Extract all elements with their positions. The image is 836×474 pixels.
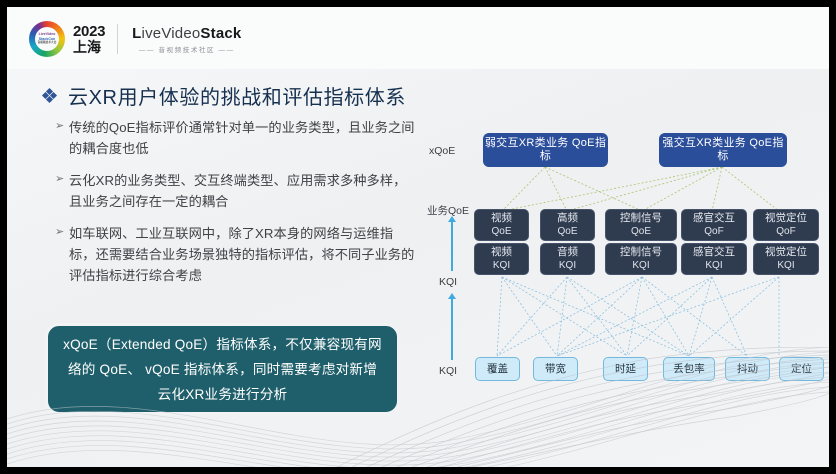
node-control-signal-kqi[interactable]: 控制信号 KQI [605, 243, 677, 275]
node-highfreq-qoe[interactable]: 高频 QoE [540, 209, 595, 241]
node-label-line2: QoF [704, 225, 723, 238]
node-label-line2: QoE [491, 225, 511, 238]
slide-canvas: LiveVideo StackCon 音视频技术大会 2023 上海 LiveV… [7, 7, 829, 467]
node-label-line2: QoE [557, 225, 577, 238]
bullet-arrow-icon: ➢ [55, 117, 69, 159]
node-label: 弱交互XR类业务 QoE指标 [483, 137, 608, 163]
node-label-line1: 视觉定位 [765, 212, 807, 225]
bullet-text: 云化XR的业务类型、交互终端类型、应用需求多种多样，且业务之间存在一定的耦合 [69, 170, 415, 212]
node-label-line2: KQI [559, 259, 576, 272]
list-item: ➢ 传统的QoE指标评价通常针对单一的业务类型，且业务之间的耦合度也低 [55, 117, 415, 159]
node-video-qoe[interactable]: 视频 QoE [474, 209, 529, 241]
brand-wordmark: LiveVideoStack [132, 25, 241, 42]
node-sensory-interaction-kqi[interactable]: 感官交互 KQI [681, 243, 747, 275]
node-control-signal-qoe[interactable]: 控制信号 QoE [605, 209, 677, 241]
event-logo: LiveVideo StackCon 音视频技术大会 2023 上海 LiveV… [29, 21, 241, 57]
bullet-text: 传统的QoE指标评价通常针对单一的业务类型，且业务之间的耦合度也低 [69, 117, 415, 159]
ring-core-text: LiveVideo StackCon 音视频技术大会 [35, 27, 59, 51]
brand-mid: iveVideo [142, 25, 201, 42]
node-label-line1: 控制信号 [620, 246, 662, 259]
node-label-line2: QoE [631, 225, 651, 238]
node-strong-interactive-xr[interactable]: 强交互XR类业务 QoE指标 [659, 133, 787, 167]
logo-divider [117, 24, 118, 54]
axis-label-xqoe: xQoE [429, 145, 455, 157]
node-label-line1: 视频 [491, 246, 512, 259]
brand-subtitle: —— 音视频技术社区 —— [132, 44, 241, 54]
brand-pre: L [132, 25, 141, 42]
node-visual-positioning-kqi[interactable]: 视觉定位 KQI [753, 243, 819, 275]
node-sensory-interaction-qoe[interactable]: 感官交互 QoF [681, 209, 747, 241]
node-label-line1: 感官交互 [693, 246, 735, 259]
ring-line-3: 音视频技术大会 [38, 41, 57, 45]
list-item: ➢ 如车联网、工业互联网中，除了XR本身的网络与运维指标，还需要结合业务场景独特… [55, 223, 415, 286]
conference-ring-icon: LiveVideo StackCon 音视频技术大会 [29, 21, 65, 57]
node-video-kqi[interactable]: 视频 KQI [474, 243, 529, 275]
page-title: 云XR用户体验的挑战和评估指标体系 [43, 81, 406, 110]
event-year-city: 2023 上海 [73, 24, 105, 54]
node-label: 强交互XR类业务 QoE指标 [659, 137, 787, 163]
axis-arrow-up-1 [451, 221, 453, 271]
node-label-line1: 视频 [491, 212, 512, 225]
brand-lockup: LiveVideoStack —— 音视频技术社区 —— [132, 25, 241, 54]
diamond-bullet-icon [43, 89, 56, 102]
event-city: 上海 [73, 40, 105, 54]
bullet-list: ➢ 传统的QoE指标评价通常针对单一的业务类型，且业务之间的耦合度也低 ➢ 云化… [55, 117, 415, 297]
node-label-line2: KQI [632, 259, 649, 272]
list-item: ➢ 云化XR的业务类型、交互终端类型、应用需求多种多样，且业务之间存在一定的耦合 [55, 170, 415, 212]
slide-header: LiveVideo StackCon 音视频技术大会 2023 上海 LiveV… [7, 7, 829, 69]
node-label-line1: 感官交互 [693, 212, 735, 225]
axis-label-kqi-upper: KQI [439, 276, 457, 288]
node-label-line2: KQI [493, 259, 510, 272]
brand-strong: Stack [200, 25, 241, 42]
node-label-line2: KQI [777, 259, 794, 272]
node-label-line1: 高频 [557, 212, 578, 225]
node-weak-interactive-xr[interactable]: 弱交互XR类业务 QoE指标 [483, 133, 608, 167]
node-label-line1: 音频 [557, 246, 578, 259]
page-title-text: 云XR用户体验的挑战和评估指标体系 [68, 81, 406, 110]
node-label-line2: QoF [776, 225, 795, 238]
node-audio-kqi[interactable]: 音频 KQI [540, 243, 595, 275]
decorative-wave-lines [7, 347, 829, 467]
slide-frame: LiveVideo StackCon 音视频技术大会 2023 上海 LiveV… [0, 0, 836, 474]
event-year: 2023 [73, 24, 105, 39]
bullet-arrow-icon: ➢ [55, 170, 69, 212]
node-label-line2: KQI [705, 259, 722, 272]
bullet-arrow-icon: ➢ [55, 223, 69, 286]
bullet-text: 如车联网、工业互联网中，除了XR本身的网络与运维指标，还需要结合业务场景独特的指… [69, 223, 415, 286]
node-visual-positioning-qoe[interactable]: 视觉定位 QoF [753, 209, 819, 241]
node-label-line1: 控制信号 [620, 212, 662, 225]
node-label-line1: 视觉定位 [765, 246, 807, 259]
